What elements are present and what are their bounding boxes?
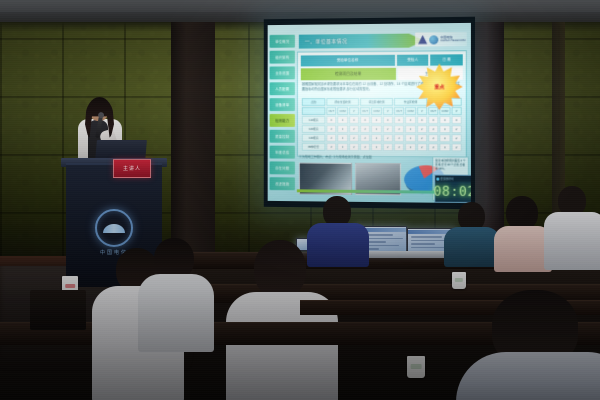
table-column-header: V (383, 107, 393, 115)
emblem-wing-icon (103, 224, 125, 233)
table-cell: 2 (371, 143, 381, 151)
slide-sidebar-item: 年度总结 (270, 146, 295, 159)
paper-cup (407, 356, 425, 378)
table-cell: 2 (440, 143, 450, 151)
table-cell: 2 (428, 134, 438, 142)
card-header-cell: 受检人 (397, 55, 429, 66)
table-row: 11#机房 0 0 0 0 0 0 0 0 0 0 0 0 (302, 116, 462, 124)
projection-screen: 单位概况 组织架构 业务范围 人员配置 设备清单 检测能力 质量控制 年度总结 … (264, 17, 475, 210)
table-cell: 2 (326, 134, 336, 142)
slide-corporate-logo: 中国电信 CHINA TELECOM (415, 32, 467, 47)
table-column-header (302, 107, 326, 115)
table-cell: 0 (349, 116, 359, 124)
table-cell: 0 (394, 116, 404, 124)
conference-hall-photo: 单位概况 组织架构 业务范围 人员配置 设备清单 检测能力 质量控制 年度总结 … (0, 0, 600, 400)
table-cell: 0 (383, 116, 393, 124)
countdown-clock: 会议倒计时 08:02 (434, 175, 471, 204)
table-cell: 2 (338, 125, 348, 133)
card-header-cell: 受检单位名称 (301, 55, 395, 67)
table-cell: 2 (440, 125, 450, 133)
table-row: 8#中控室 2 2 2 2 2 2 2 2 2 2 2 2 (302, 143, 462, 152)
nameplate-text: 主讲人 (123, 165, 141, 172)
table-cell: 2 (440, 134, 450, 142)
table-column-header: OUT (394, 107, 404, 115)
av-equipment (30, 290, 86, 330)
table-cell: 2 (326, 143, 336, 151)
table-cell: 0 (428, 116, 438, 124)
table-row: 14#机房 2 2 2 2 2 2 2 2 2 2 2 2 (302, 134, 462, 143)
table-cell: 2 (405, 143, 415, 151)
slide-sidebar-item: 改进措施 (270, 177, 295, 190)
table-cell: 0 (371, 116, 381, 124)
table-column-header: COM (371, 107, 381, 115)
table-cell: 2 (371, 134, 381, 142)
wall-column-left (171, 22, 215, 272)
slide-sidebar-item: 存在问题 (270, 161, 295, 174)
table-cell: 2 (383, 143, 393, 151)
table-cell: 2 (405, 125, 415, 133)
table-cell: 2 (394, 143, 404, 151)
speaker-nameplate: 主讲人 (113, 159, 151, 178)
slide-sidebar: 单位概况 组织架构 业务范围 人员配置 设备清单 检测能力 质量控制 年度总结 … (270, 33, 295, 199)
attendee-foreground-right (470, 290, 600, 400)
slide-title-text: 一、单位基本情况 (305, 38, 348, 45)
attendee-head (254, 240, 306, 298)
table-cell: 2 (360, 125, 370, 133)
slide-title-banner: 一、单位基本情况 (299, 33, 424, 48)
attendee-front-left-dark-hair (140, 238, 210, 348)
laptop-screen-line (411, 236, 442, 238)
logo-triangle-icon (418, 35, 427, 44)
slide-sidebar-item: 设备清单 (270, 98, 295, 111)
table-cell: 2 (405, 134, 415, 142)
table-row-label: 14#机房 (302, 134, 326, 142)
table-column-header: COM (405, 107, 415, 115)
table-column-header-row: OUT COM V OUT COM V OUT COM V OUT COM V (302, 107, 462, 115)
table-cell: 2 (371, 125, 381, 133)
presentation-slide: 单位概况 组织架构 业务范围 人员配置 设备清单 检测能力 质量控制 年度总结 … (268, 23, 471, 203)
table-column-header: OUT (326, 107, 336, 115)
laptop-screen-line (411, 247, 447, 249)
table-column-header: V (349, 107, 359, 115)
slide-sidebar-item: 人员配置 (270, 82, 295, 95)
logo-text-en: CHINA TELECOM (440, 39, 465, 43)
table-cell: 2 (383, 125, 393, 133)
slide-sidebar-item: 质量控制 (270, 130, 295, 143)
table-column-header: V (417, 107, 427, 115)
slide-sidebar-item-active: 检测能力 (270, 114, 295, 127)
attendee-torso (456, 352, 600, 400)
clock-label: 会议倒计时 (440, 177, 453, 181)
laptop-screen-line (411, 243, 435, 245)
table-cell: 2 (349, 143, 359, 151)
china-telecom-emblem-icon (95, 209, 133, 247)
table-cell: 2 (338, 134, 348, 142)
attendee-teal-shirt-laptop (444, 202, 500, 266)
table-cell: 2 (417, 125, 427, 133)
attendee-head (506, 196, 538, 230)
table-cell: 0 (326, 116, 336, 124)
card-subheader-cell: 检测项目及结果 (301, 68, 396, 80)
table-cell: 2 (451, 143, 462, 151)
paper-cup (452, 272, 466, 289)
table-cell: 0 (417, 116, 427, 124)
table-cell: 2 (349, 125, 359, 133)
attendee-right-light-shirt (548, 186, 600, 270)
table-column-header: COM (338, 107, 348, 115)
slide-sidebar-item: 业务范围 (270, 66, 295, 79)
logo-globe-icon (429, 35, 438, 44)
ceiling-light-strip (0, 0, 600, 12)
attendee-torso (444, 227, 500, 267)
slide-sidebar-item: 组织架构 (270, 51, 295, 64)
table-cell: 2 (451, 134, 462, 142)
table-cell: 0 (360, 116, 370, 124)
table-column-header: OUT (428, 107, 438, 115)
table-group-header: 邻近区域检测 (360, 98, 393, 106)
attendee-torso (138, 274, 214, 352)
table-cell: 2 (428, 143, 438, 151)
table-cell: 0 (338, 116, 348, 124)
table-cell: 2 (326, 125, 336, 133)
attendee-center-white-shirt (232, 240, 330, 400)
table-corner-cell: 点位 (302, 98, 326, 106)
clock-time-display: 08:02 (435, 182, 471, 203)
table-column-header: COM (440, 107, 450, 115)
table-cell: 2 (428, 125, 438, 133)
table-column-header: V (451, 107, 462, 115)
table-row: 12#机房 2 2 2 2 2 2 2 2 2 2 2 2 (302, 125, 462, 133)
table-cell: 2 (349, 134, 359, 142)
attendee-torso (544, 212, 600, 270)
table-cell: 0 (440, 116, 450, 124)
table-cell: 2 (360, 134, 370, 142)
table-cell: 2 (394, 134, 404, 142)
table-cell: 2 (394, 125, 404, 133)
card-header-cell: 日 期 (431, 54, 463, 65)
slide-sidebar-item: 单位概况 (270, 35, 295, 48)
table-cell: 2 (417, 143, 427, 151)
table-cell: 0 (451, 116, 462, 124)
card-header-row: 受检单位名称 受检人 日 期 (301, 54, 463, 66)
table-cell: 2 (451, 125, 462, 133)
table-row-label: 11#机房 (302, 116, 326, 124)
table-cell: 2 (383, 134, 393, 142)
table-column-header: OUT (360, 107, 370, 115)
table-row-label: 8#中控室 (302, 143, 326, 151)
starburst-label: 重点 (434, 83, 444, 90)
table-cell: 0 (405, 116, 415, 124)
table-group-header: 所在位置检测 (326, 98, 359, 106)
clock-indicator-icon (436, 177, 439, 180)
table-group-header: 作业区检测 (394, 98, 427, 106)
table-cell: 2 (360, 143, 370, 151)
table-cell: 2 (417, 134, 427, 142)
table-row-label: 12#机房 (302, 125, 326, 133)
table-cell: 2 (338, 143, 348, 151)
